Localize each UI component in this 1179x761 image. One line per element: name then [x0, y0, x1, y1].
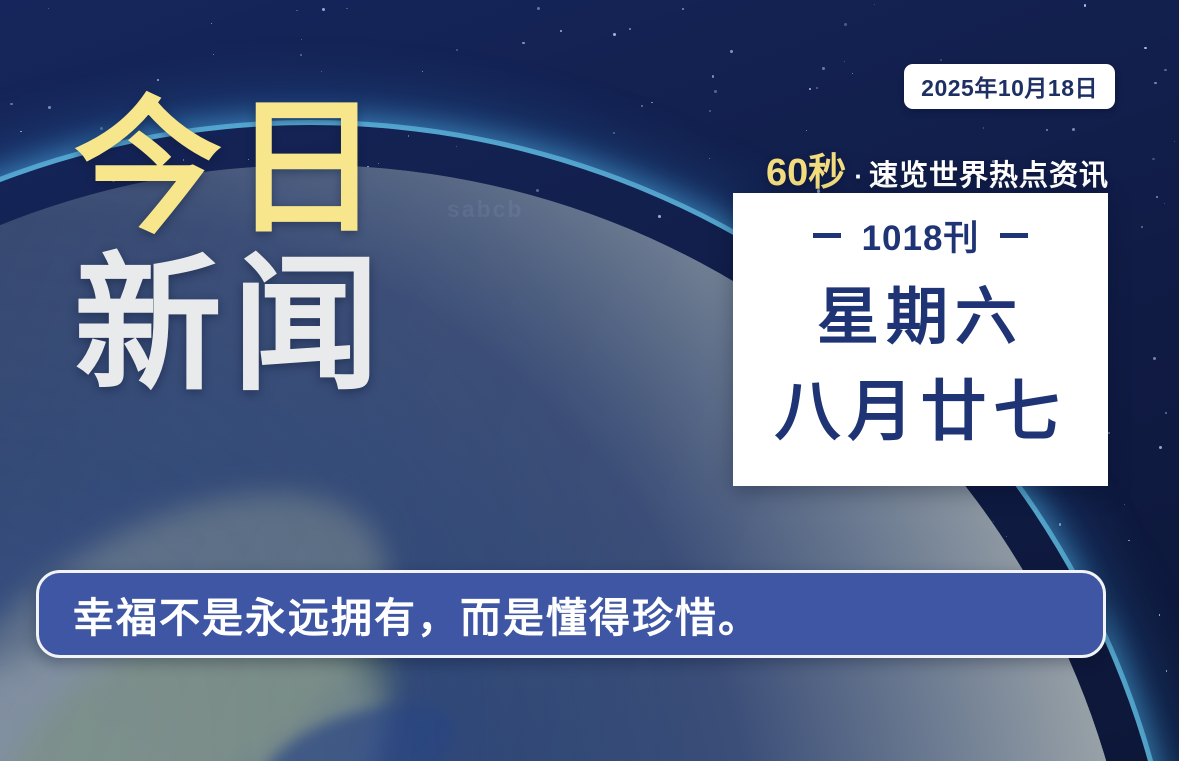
dash-left-icon — [813, 233, 841, 238]
weekday-label: 星期六 — [817, 287, 1024, 349]
title-line-news: 新闻 — [74, 253, 390, 400]
star-icon — [730, 50, 733, 53]
star-icon — [983, 127, 985, 129]
star-icon — [641, 105, 643, 107]
poster-title: 今日 新闻 — [74, 96, 390, 399]
star-icon — [714, 90, 717, 93]
title-line-today: 今日 — [74, 96, 390, 243]
star-icon — [48, 106, 51, 109]
star-icon — [613, 33, 616, 36]
star-icon — [456, 49, 458, 51]
star-icon — [48, 8, 50, 10]
star-icon — [296, 10, 298, 12]
star-icon — [301, 39, 302, 40]
star-icon — [300, 54, 302, 56]
tagline-text: 速览世界热点资讯 — [869, 152, 1109, 194]
star-icon — [322, 8, 325, 11]
star-icon — [1174, 141, 1175, 142]
tagline-seconds: 60秒 — [766, 141, 846, 196]
tagline: 60秒 · 速览世界热点资讯 — [766, 141, 1109, 196]
watermark: sabcb — [447, 196, 523, 223]
star-icon — [321, 71, 322, 72]
quote-bar: 幸福不是永远拥有，而是懂得珍惜。 — [36, 570, 1106, 658]
issue-number: 1018刊 — [862, 210, 980, 261]
star-icon — [852, 73, 853, 74]
star-icon — [1153, 357, 1156, 360]
star-icon — [1144, 47, 1147, 50]
star-icon — [10, 103, 12, 105]
star-icon — [822, 67, 825, 70]
star-icon — [1156, 196, 1158, 198]
star-icon — [1159, 614, 1161, 616]
star-icon — [1165, 412, 1167, 414]
star-icon — [1166, 670, 1168, 672]
date-badge: 2025年10月18日 — [904, 64, 1115, 109]
tagline-separator: · — [854, 161, 863, 192]
star-icon — [1108, 432, 1110, 434]
star-icon — [1154, 82, 1157, 85]
star-icon — [709, 158, 710, 159]
star-icon — [1059, 523, 1062, 526]
star-icon — [1072, 128, 1075, 131]
star-icon — [629, 28, 631, 30]
star-icon — [1159, 446, 1162, 449]
lunar-date-label: 八月廿七 — [775, 378, 1067, 444]
star-icon — [157, 79, 159, 81]
star-icon — [1141, 226, 1143, 228]
star-icon — [709, 110, 711, 112]
star-icon — [1046, 129, 1048, 131]
star-icon — [537, 7, 540, 10]
star-icon — [422, 71, 423, 72]
star-icon — [211, 23, 212, 24]
star-icon — [560, 30, 563, 33]
star-icon — [1084, 4, 1087, 7]
star-icon — [940, 59, 942, 61]
star-icon — [816, 87, 818, 89]
quote-text: 幸福不是永远拥有，而是懂得珍惜。 — [39, 584, 761, 644]
star-icon — [874, 4, 875, 5]
star-icon — [1152, 158, 1155, 161]
issue-row: 1018刊 — [792, 210, 1050, 261]
star-icon — [346, 8, 348, 10]
star-icon — [1124, 504, 1125, 505]
star-icon — [844, 61, 845, 62]
star-icon — [522, 42, 524, 44]
star-icon — [213, 54, 215, 56]
dash-right-icon — [1000, 233, 1028, 238]
star-icon — [1164, 69, 1167, 72]
star-icon — [712, 75, 715, 78]
star-icon — [809, 88, 811, 90]
news-poster: sabcb 今日 新闻 2025年10月18日 60秒 · 速览世界热点资讯 1… — [0, 0, 1179, 761]
star-icon — [844, 23, 847, 26]
star-icon — [682, 8, 684, 10]
star-icon — [20, 131, 22, 133]
star-icon — [651, 102, 652, 103]
date-info-card: 1018刊 星期六 八月廿七 — [733, 193, 1108, 486]
star-icon — [1128, 540, 1129, 541]
star-icon — [806, 130, 807, 131]
star-icon — [613, 132, 615, 134]
star-icon — [1035, 511, 1036, 512]
star-icon — [1164, 203, 1165, 204]
